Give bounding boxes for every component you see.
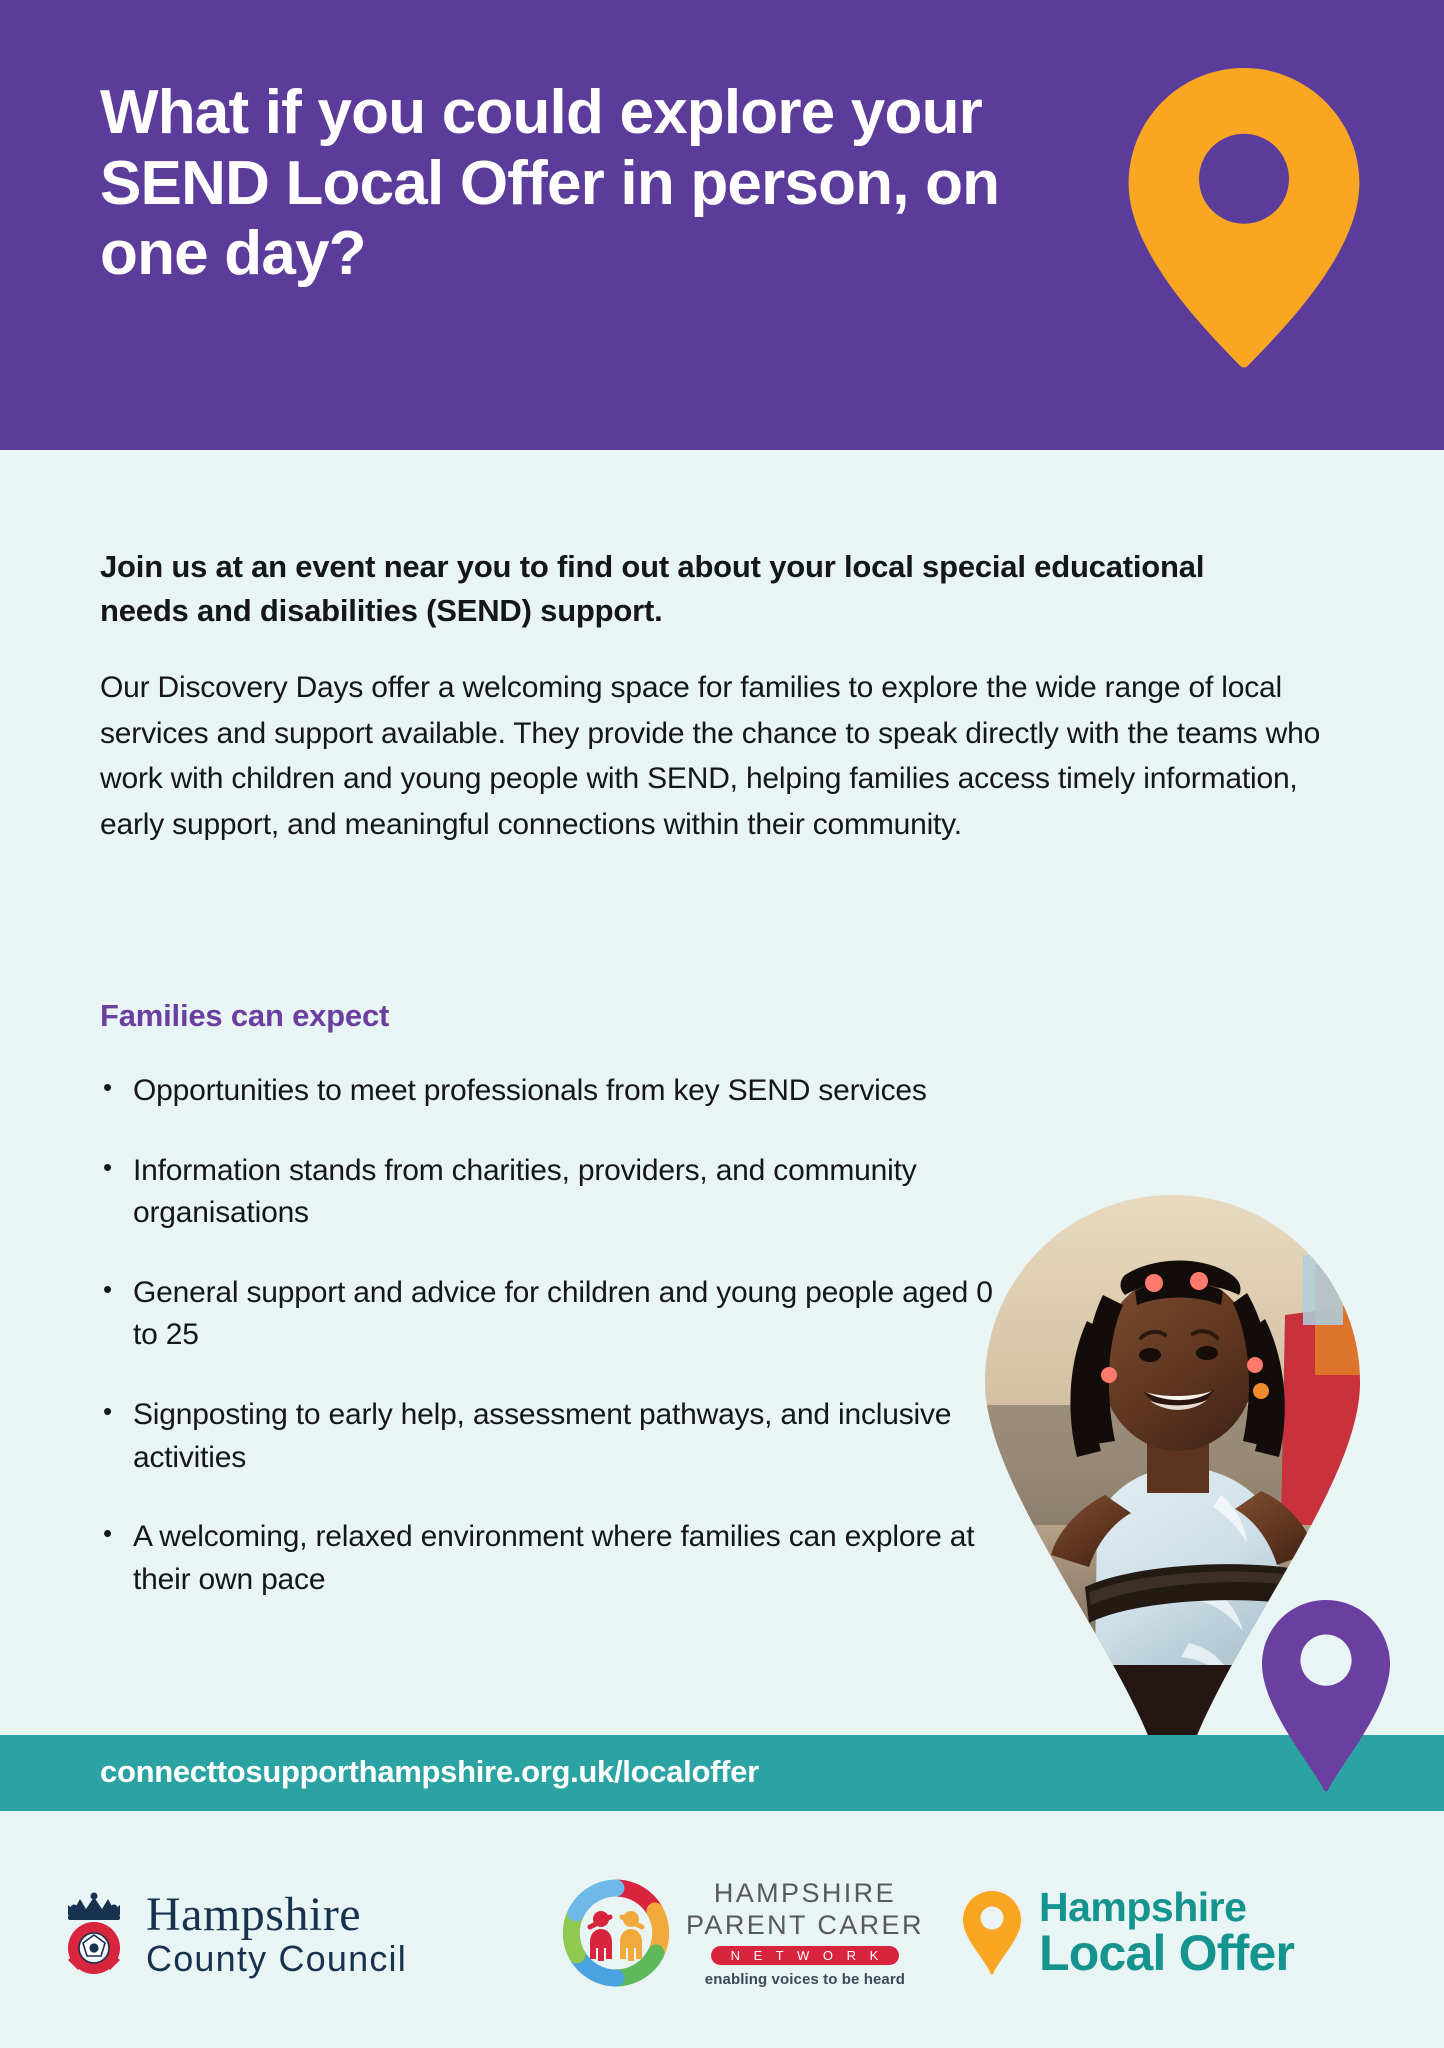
poster-root: What if you could explore your SEND Loca… — [0, 0, 1444, 2048]
section-subheading: Families can expect — [100, 998, 389, 1034]
tudor-rose-with-crown-icon — [58, 1891, 130, 1977]
circle-of-people-icon — [560, 1877, 672, 1989]
website-url[interactable]: connecttosupporthampshire.org.uk/localof… — [100, 1754, 759, 1790]
list-item: General support and advice for children … — [95, 1272, 1015, 1357]
hcc-line-1: Hampshire — [146, 1891, 407, 1939]
list-item: Information stands from charities, provi… — [95, 1150, 1015, 1235]
logo-hampshire-county-council: Hampshire County Council — [58, 1891, 407, 1977]
hpcn-tagline: enabling voices to be heard — [705, 1972, 905, 1987]
local-offer-line-2: Local Offer — [1039, 1929, 1294, 1978]
header-band: What if you could explore your SEND Loca… — [0, 0, 1444, 450]
hcc-line-2: County Council — [146, 1941, 407, 1977]
map-pin-icon-purple — [1262, 1600, 1390, 1792]
map-pin-icon — [1128, 68, 1360, 368]
list-item: Signposting to early help, assessment pa… — [95, 1394, 1015, 1479]
local-offer-line-1: Hampshire — [1039, 1887, 1294, 1927]
map-pin-icon-orange — [963, 1891, 1021, 1975]
hpcn-network-pill: N E T W O R K — [711, 1946, 900, 1965]
hpcn-line-1: HAMPSHIRE — [714, 1880, 896, 1907]
page-title: What if you could explore your SEND Loca… — [100, 78, 1100, 290]
hpcn-line-2: PARENT CARER — [686, 1912, 924, 1939]
list-item: A welcoming, relaxed environment where f… — [95, 1516, 1015, 1601]
footer-logos: Hampshire County Council — [0, 1855, 1444, 2048]
list-item: Opportunities to meet professionals from… — [95, 1070, 1015, 1113]
logo-hampshire-local-offer: Hampshire Local Offer — [963, 1887, 1294, 1978]
lede-paragraph: Join us at an event near you to find out… — [100, 545, 1280, 633]
body-paragraph: Our Discovery Days offer a welcoming spa… — [100, 665, 1350, 847]
logo-hampshire-parent-carer-network: HAMPSHIRE PARENT CARER N E T W O R K ena… — [560, 1877, 924, 1989]
expectations-list: Opportunities to meet professionals from… — [95, 1070, 1015, 1638]
